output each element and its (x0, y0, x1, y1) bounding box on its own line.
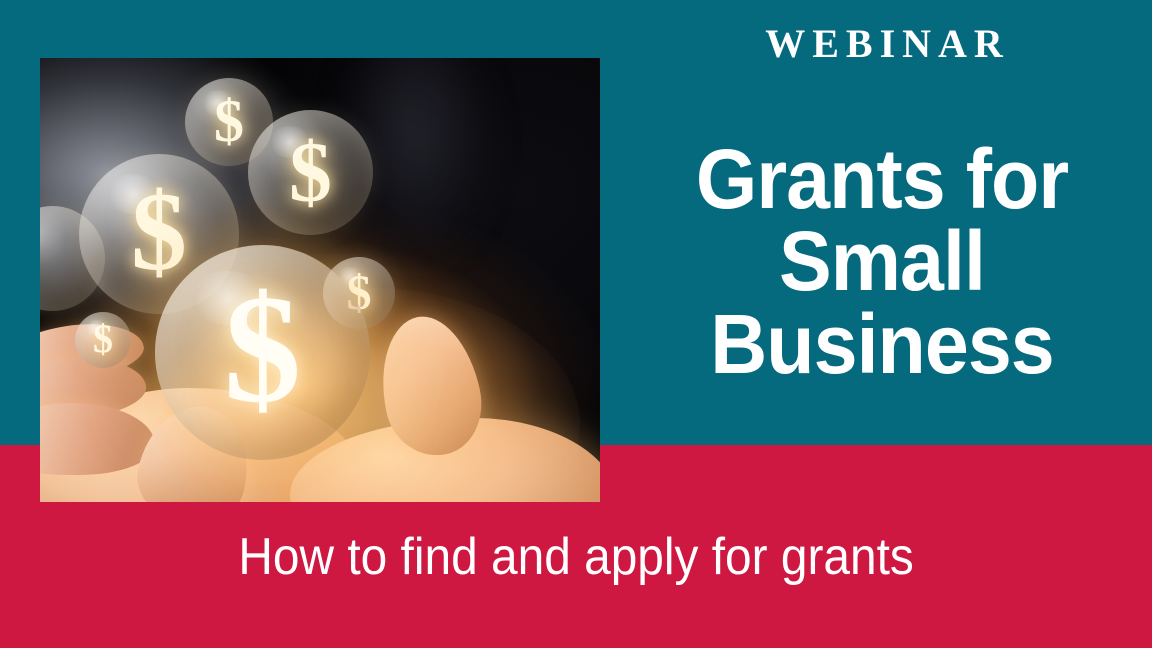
dollar-symbol: $ (214, 91, 244, 151)
dollar-symbol: $ (289, 128, 332, 214)
dollar-symbol: $ (93, 319, 113, 359)
dollar-bubble-top-right: $ (248, 110, 373, 235)
eyebrow-label: WEBINAR (616, 20, 1152, 67)
hero-photo: $ $ $ $ $ $ (40, 58, 600, 502)
webinar-banner: $ $ $ $ $ $ WEBINAR Grants for Small Bus… (0, 0, 1152, 648)
page-title: Grants for Small Business (612, 138, 1152, 385)
dollar-bubble-lower-left-tiny: $ (75, 312, 131, 368)
headline-line-2: Small Business (628, 220, 1136, 385)
headline-line-1: Grants for (628, 138, 1136, 220)
dollar-bubble-main-centre: $ (155, 245, 370, 460)
dollar-symbol: $ (224, 272, 302, 427)
subtitle-text: How to find and apply for grants (238, 527, 913, 587)
subtitle-bar: How to find and apply for grants (0, 527, 1152, 587)
dollar-symbol: $ (131, 176, 187, 288)
